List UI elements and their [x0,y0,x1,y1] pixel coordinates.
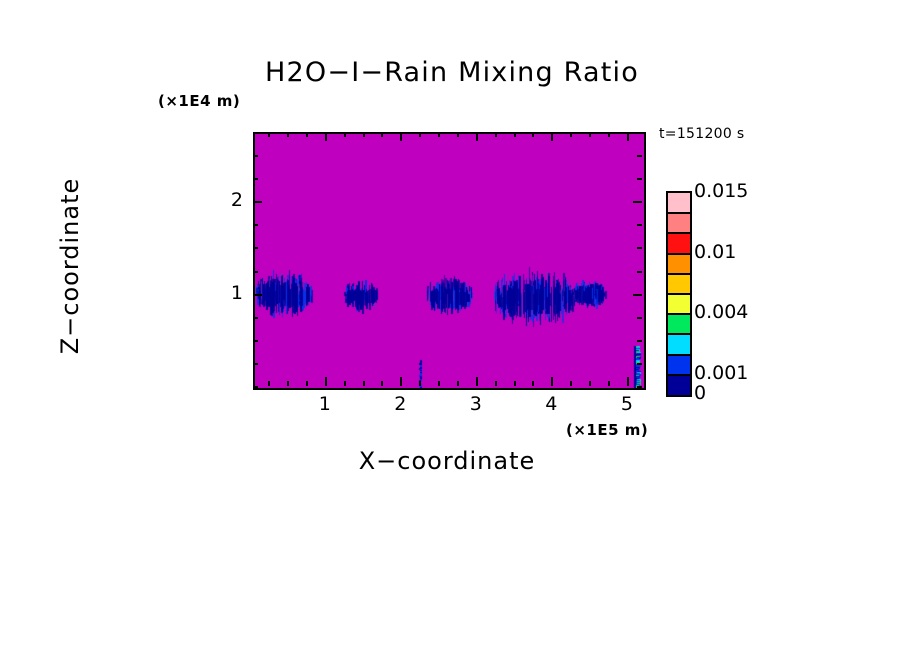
y-minor-tick [253,386,258,388]
y-major-tick-right [633,201,642,203]
x-major-tick [627,377,629,386]
contour-plot-figure: H2O−I−Rain Mixing Ratio (×1E4 m) (×1E5 m… [0,0,904,654]
x-minor-tick-top [268,132,270,137]
colorbar-separator [668,333,690,335]
x-major-tick-top [476,132,478,141]
x-minor-tick [495,381,497,386]
y-minor-tick [253,224,258,226]
x-major-tick [400,377,402,386]
y-major-tick [253,294,262,296]
x-minor-tick-top [306,132,308,137]
y-minor-tick-right [637,386,642,388]
x-minor-tick [514,381,516,386]
y-minor-tick-right [637,155,642,157]
colorbar-separator [668,354,690,356]
x-major-tick-top [400,132,402,141]
colorbar-band [668,294,690,314]
x-minor-tick [363,381,365,386]
x-minor-tick [457,381,459,386]
x-minor-tick-top [287,132,289,137]
colorbar-separator [668,212,690,214]
colorbar-tick-label: 0.015 [694,180,748,202]
colorbar-tick-label: 0.001 [694,362,748,384]
x-minor-tick-top [419,132,421,137]
y-minor-tick-right [637,363,642,365]
y-minor-tick-right [637,317,642,319]
x-minor-tick-top [514,132,516,137]
x-major-tick [476,377,478,386]
colorbar-band [668,274,690,294]
colorbar-band [668,355,690,375]
x-minor-tick [287,381,289,386]
x-minor-tick-top [608,132,610,137]
x-tick-label: 4 [531,393,571,415]
x-minor-tick [608,381,610,386]
colorbar-tick-label: 0 [694,382,706,404]
colorbar-band [668,334,690,354]
x-tick-label: 5 [607,393,647,415]
y-minor-tick [253,247,258,249]
x-major-tick [551,377,553,386]
y-minor-tick [253,317,258,319]
x-minor-tick-top [532,132,534,137]
y-minor-tick-right [637,271,642,273]
x-major-tick-top [551,132,553,141]
colorbar-band [668,254,690,274]
colorbar-separator [668,293,690,295]
y-axis-title: Z−coordinate [56,136,84,396]
colorbar-tick-label: 0.004 [694,301,748,323]
x-tick-label: 3 [456,393,496,415]
colorbar-separator [668,313,690,315]
x-minor-tick-top [457,132,459,137]
y-minor-tick [253,363,258,365]
y-minor-tick-right [637,132,642,134]
y-minor-tick [253,340,258,342]
colorbar-band [668,193,690,213]
x-minor-tick [306,381,308,386]
y-axis-title-text: Z−coordinate [56,178,84,355]
x-axis-title-text: X−coordinate [359,447,536,475]
x-minor-tick [570,381,572,386]
colorbar-band [668,233,690,253]
y-minor-tick-right [637,247,642,249]
chart-title-text: H2O−I−Rain Mixing Ratio [265,57,639,88]
y-minor-tick [253,155,258,157]
colorbar-band [668,375,690,395]
x-minor-tick-top [589,132,591,137]
y-minor-tick-right [637,340,642,342]
x-major-tick-top [325,132,327,141]
x-minor-tick-top [363,132,365,137]
colorbar-separator [668,374,690,376]
colorbar-separator [668,232,690,234]
x-major-tick [325,377,327,386]
x-minor-tick [589,381,591,386]
x-minor-tick-top [570,132,572,137]
y-tick-label: 2 [213,189,243,211]
x-axis-unit-label: (×1E5 m) [566,421,648,439]
x-minor-tick [532,381,534,386]
x-minor-tick-top [381,132,383,137]
y-minor-tick [253,132,258,134]
x-minor-tick-top [438,132,440,137]
x-minor-tick [381,381,383,386]
y-minor-tick [253,178,258,180]
chart-title: H2O−I−Rain Mixing Ratio [0,57,904,88]
x-minor-tick [268,381,270,386]
x-minor-tick-top [344,132,346,137]
x-minor-tick [419,381,421,386]
time-annotation: t=151200 s [659,126,744,142]
colorbar-tick-label: 0.01 [694,241,736,263]
y-major-tick-right [633,294,642,296]
y-tick-label: 1 [213,282,243,304]
x-minor-tick [438,381,440,386]
colorbar-band [668,314,690,334]
x-tick-label: 2 [380,393,420,415]
plot-area [253,132,646,390]
x-tick-label: 1 [305,393,345,415]
y-minor-tick-right [637,178,642,180]
x-axis-title: X−coordinate [0,447,904,475]
rain-mixing-ratio-field [255,134,644,388]
x-minor-tick [344,381,346,386]
colorbar-separator [668,253,690,255]
y-axis-unit-label: (×1E4 m) [158,92,240,110]
y-minor-tick-right [637,224,642,226]
colorbar-band [668,213,690,233]
colorbar [666,191,692,397]
y-minor-tick [253,271,258,273]
x-minor-tick-top [495,132,497,137]
colorbar-separator [668,273,690,275]
x-major-tick-top [627,132,629,141]
y-major-tick [253,201,262,203]
